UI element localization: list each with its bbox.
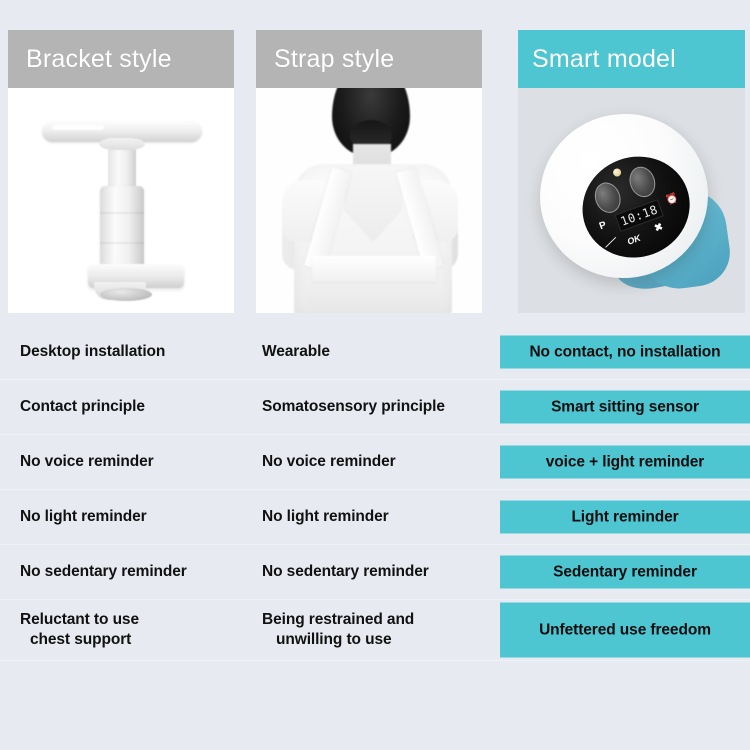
- column-header-strap-label: Strap style: [274, 47, 394, 72]
- cell-strap: Being restrained and unwilling to use: [262, 600, 492, 660]
- table-row: Reluctant to use chest support Being res…: [0, 600, 750, 661]
- power-icon[interactable]: P: [598, 221, 608, 233]
- column-header-smart-label: Smart model: [532, 47, 676, 72]
- alarm-clock-icon[interactable]: ⏰: [665, 193, 680, 207]
- cell-bracket-line1: Reluctant to use: [20, 611, 139, 628]
- table-row: No light reminder No light reminder Ligh…: [0, 490, 750, 545]
- cell-strap: No voice reminder: [262, 435, 492, 489]
- cell-bracket: Desktop installation: [20, 325, 250, 379]
- column-header-bracket-label: Bracket style: [26, 47, 172, 72]
- smart-sensor-illustration: 10:18 P ⏰ OK ✖ ╱: [518, 88, 745, 313]
- cell-strap: No light reminder: [262, 490, 492, 544]
- bracket-base-pad: [100, 288, 152, 301]
- cell-bracket: No voice reminder: [20, 435, 250, 489]
- cell-smart-badge: Light reminder: [500, 501, 750, 534]
- cell-smart-badge: Sedentary reminder: [500, 556, 750, 589]
- table-row: Contact principle Somatosensory principl…: [0, 380, 750, 435]
- cell-bracket: Reluctant to use chest support: [20, 600, 250, 660]
- cell-bracket: No sedentary reminder: [20, 545, 250, 599]
- harness-waist-band: [312, 256, 436, 282]
- table-row: No sedentary reminder No sedentary remin…: [0, 545, 750, 600]
- cell-strap: No sedentary reminder: [262, 545, 492, 599]
- comparison-infographic: Bracket style Strap style Smart model: [0, 0, 750, 750]
- close-icon[interactable]: ✖: [653, 222, 664, 234]
- posture-strap-illustration: [256, 88, 482, 313]
- product-image-strap: [256, 88, 482, 313]
- cell-strap-line2: unwilling to use: [262, 630, 414, 650]
- cell-smart-badge: voice + light reminder: [500, 446, 750, 479]
- cell-bracket: Contact principle: [20, 380, 250, 434]
- comparison-rows: Desktop installation Wearable No contact…: [0, 325, 750, 661]
- sensor-lens-left: [591, 179, 625, 217]
- column-header-smart: Smart model: [518, 30, 745, 88]
- cell-strap: Wearable: [262, 325, 492, 379]
- cell-bracket-line2: chest support: [20, 630, 139, 650]
- indicator-led: [612, 167, 622, 177]
- person-lower-back: [308, 284, 440, 313]
- cell-smart-badge: Smart sitting sensor: [500, 391, 750, 424]
- table-row: No voice reminder No voice reminder voic…: [0, 435, 750, 490]
- product-image-bracket: [8, 88, 234, 313]
- bracket-chest-support-illustration: [8, 88, 234, 313]
- table-row: Desktop installation Wearable No contact…: [0, 325, 750, 380]
- cell-strap-line1: Being restrained and: [262, 611, 414, 628]
- cell-smart-badge: No contact, no installation: [500, 336, 750, 369]
- minus-icon[interactable]: ╱: [606, 237, 616, 250]
- cell-bracket: No light reminder: [20, 490, 250, 544]
- cell-strap: Somatosensory principle: [262, 380, 492, 434]
- cell-smart-badge: Unfettered use freedom: [500, 603, 750, 658]
- ok-button[interactable]: OK: [626, 234, 642, 247]
- device-control-panel: 10:18 P ⏰ OK ✖ ╱: [568, 142, 704, 273]
- bracket-telescoping-tube: [100, 186, 144, 274]
- sensor-lens-right: [625, 163, 659, 201]
- bracket-neck: [108, 138, 136, 190]
- product-image-smart: 10:18 P ⏰ OK ✖ ╱: [518, 88, 745, 313]
- column-header-strap: Strap style: [256, 30, 482, 88]
- column-header-bracket: Bracket style: [8, 30, 234, 88]
